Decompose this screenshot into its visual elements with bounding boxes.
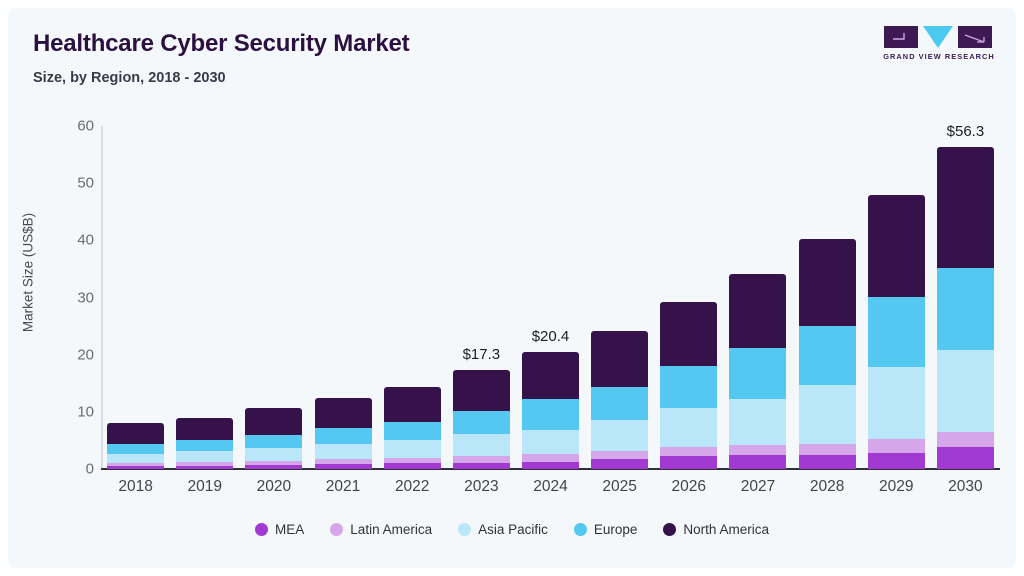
bar-segment-europe (799, 326, 856, 385)
bar-2020[interactable] (245, 408, 302, 469)
bar-segment-asia-pacific (453, 434, 510, 457)
x-axis-tick-2018: 2018 (101, 478, 170, 496)
bar-segment-asia-pacific (315, 444, 372, 459)
bar-segment-europe (522, 399, 579, 430)
bar-segment-north-america (868, 195, 925, 297)
x-axis-tick-2022: 2022 (378, 478, 447, 496)
bar-segment-europe (868, 297, 925, 367)
bar-2018[interactable] (107, 423, 164, 469)
bar-segment-asia-pacific (591, 420, 648, 451)
bar-segment-europe (729, 348, 786, 399)
legend-swatch-icon (458, 523, 471, 536)
legend-label: North America (683, 522, 769, 537)
bar-segment-europe (245, 435, 302, 448)
bar-segment-europe (453, 411, 510, 434)
x-axis-tick-2026: 2026 (654, 478, 723, 496)
y-axis-tick: 40 (48, 232, 94, 249)
bar-2026[interactable] (660, 302, 717, 469)
y-axis-tick: 10 (48, 403, 94, 420)
bar-segment-mea (315, 464, 372, 469)
y-axis-tick: 30 (48, 289, 94, 306)
bar-segment-latin-america (176, 462, 233, 465)
bar-segment-north-america (315, 398, 372, 429)
bar-segment-asia-pacific (107, 454, 164, 464)
bar-segment-mea (453, 463, 510, 469)
bar-segment-mea (176, 466, 233, 469)
bar-segment-north-america (937, 147, 994, 268)
bar-segment-europe (384, 422, 441, 440)
legend-label: Asia Pacific (478, 522, 548, 537)
bar-segment-north-america (384, 387, 441, 422)
bar-segment-north-america (176, 418, 233, 441)
bar-segment-latin-america (245, 461, 302, 465)
bar-segment-mea (522, 462, 579, 469)
bar-segment-north-america (799, 239, 856, 326)
legend-swatch-icon (330, 523, 343, 536)
bar-segment-latin-america (868, 439, 925, 453)
bar-segment-mea (729, 455, 786, 469)
x-axis-tick-2028: 2028 (793, 478, 862, 496)
y-axis-tick: 0 (48, 461, 94, 478)
bar-segment-asia-pacific (245, 448, 302, 461)
value-label-2023: $17.3 (431, 346, 531, 363)
bar-segment-asia-pacific (522, 430, 579, 454)
bar-segment-north-america (729, 274, 786, 348)
y-axis-tick: 60 (48, 118, 94, 135)
bar-2021[interactable] (315, 398, 372, 469)
value-label-2030: $56.3 (915, 123, 1015, 140)
chart-canvas: Healthcare Cyber Security Market Size, b… (8, 8, 1016, 568)
bar-segment-mea (937, 447, 994, 469)
bar-segment-latin-america (315, 459, 372, 464)
bar-segment-latin-america (453, 456, 510, 462)
bar-segment-europe (937, 268, 994, 349)
x-axis-tick-2019: 2019 (170, 478, 239, 496)
bar-segment-latin-america (660, 447, 717, 456)
bar-segment-asia-pacific (176, 451, 233, 462)
bar-segment-mea (245, 465, 302, 469)
bar-segment-asia-pacific (937, 350, 994, 432)
bar-segment-latin-america (799, 444, 856, 455)
legend-item-mea[interactable]: MEA (255, 522, 304, 537)
bar-segment-mea (660, 456, 717, 469)
value-label-2024: $20.4 (501, 328, 601, 345)
legend-label: MEA (275, 522, 304, 537)
x-axis-tick-2029: 2029 (862, 478, 931, 496)
x-axis-tick-2025: 2025 (585, 478, 654, 496)
bar-2029[interactable] (868, 195, 925, 469)
bar-segment-north-america (660, 302, 717, 365)
bar-2019[interactable] (176, 418, 233, 469)
x-axis-tick-2021: 2021 (308, 478, 377, 496)
bar-segment-asia-pacific (799, 385, 856, 444)
legend-item-latin-america[interactable]: Latin America (330, 522, 432, 537)
legend-item-north-america[interactable]: North America (663, 522, 769, 537)
bar-2027[interactable] (729, 274, 786, 469)
bar-segment-europe (591, 387, 648, 420)
bar-segment-mea (799, 455, 856, 469)
bar-2028[interactable] (799, 239, 856, 469)
bar-segment-asia-pacific (384, 440, 441, 458)
y-axis-tick: 50 (48, 175, 94, 192)
bar-segment-mea (107, 466, 164, 469)
x-axis-tick-2024: 2024 (516, 478, 585, 496)
bar-segment-europe (660, 366, 717, 408)
chart-legend: MEALatin AmericaAsia PacificEuropeNorth … (8, 522, 1016, 537)
bar-2025[interactable] (591, 331, 648, 469)
bar-segment-asia-pacific (660, 408, 717, 447)
bar-segment-latin-america (729, 445, 786, 455)
bar-2022[interactable] (384, 387, 441, 469)
legend-swatch-icon (663, 523, 676, 536)
bar-segment-mea (591, 459, 648, 469)
bar-segment-latin-america (591, 451, 648, 459)
bar-segment-latin-america (384, 458, 441, 463)
bar-2030[interactable] (937, 147, 994, 469)
y-axis-tick: 20 (48, 346, 94, 363)
bar-segment-europe (315, 428, 372, 443)
x-axis-tick-2030: 2030 (931, 478, 1000, 496)
bar-segment-latin-america (522, 454, 579, 461)
bar-segment-europe (176, 440, 233, 451)
x-axis-tick-2027: 2027 (723, 478, 792, 496)
bar-segment-north-america (245, 408, 302, 435)
bar-2023[interactable] (453, 370, 510, 469)
bar-segment-north-america (107, 423, 164, 444)
legend-item-europe[interactable]: Europe (574, 522, 638, 537)
bar-segment-latin-america (937, 432, 994, 447)
bar-segment-mea (384, 463, 441, 469)
legend-item-asia-pacific[interactable]: Asia Pacific (458, 522, 548, 537)
legend-label: Latin America (350, 522, 432, 537)
bar-segment-asia-pacific (868, 367, 925, 439)
legend-swatch-icon (574, 523, 587, 536)
legend-swatch-icon (255, 523, 268, 536)
bar-segment-latin-america (107, 463, 164, 466)
bar-2024[interactable] (522, 352, 579, 469)
bar-segment-asia-pacific (729, 399, 786, 445)
bar-segment-mea (868, 453, 925, 469)
bar-segment-europe (107, 444, 164, 454)
bar-segment-north-america (453, 370, 510, 411)
legend-label: Europe (594, 522, 638, 537)
x-axis-tick-2020: 2020 (239, 478, 308, 496)
plot-area (101, 126, 1000, 469)
x-axis-tick-2023: 2023 (447, 478, 516, 496)
